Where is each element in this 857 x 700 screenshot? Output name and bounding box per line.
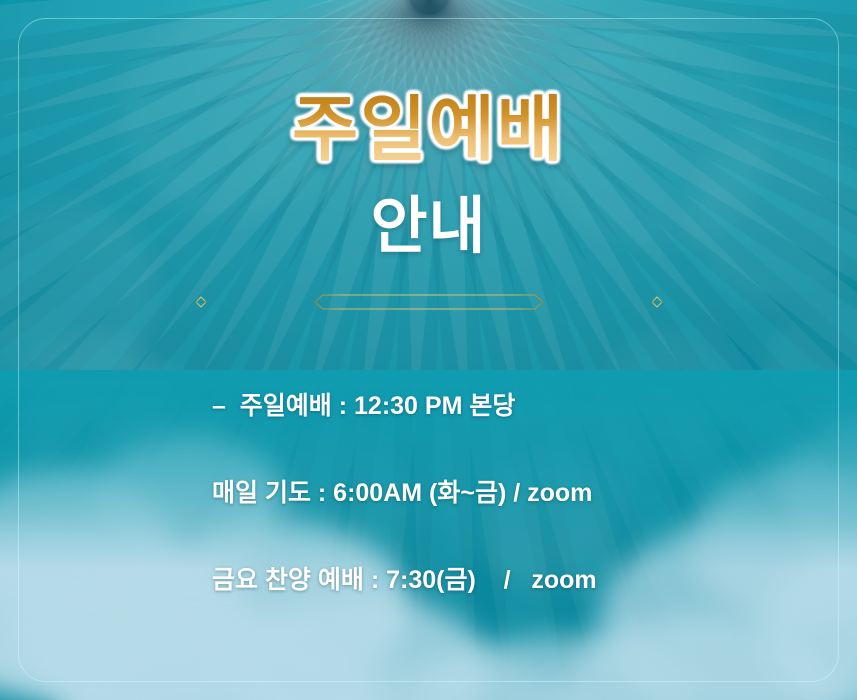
section-one-line-1: 금요 찬양 예배 : 7:30(금) / zoom [212, 566, 597, 595]
service-schedule-block: – 주일예배 : 12:30 PM 본당 매일 기도 : 6:00AM (화~금… [212, 334, 597, 700]
page-subtitle: 안내 [0, 196, 857, 258]
slide-content: 주일예배 안내 [0, 0, 857, 700]
section-one-heading: – 주일예배 : 12:30 PM 본당 [212, 392, 597, 421]
ornamental-divider [190, 293, 668, 311]
section-spacer [212, 653, 597, 675]
page-title: 주일예배 [0, 94, 857, 166]
section-one-line-0: 매일 기도 : 6:00AM (화~금) / zoom [212, 479, 597, 508]
diamond-hexagon-divider-icon [190, 293, 668, 311]
announcement-slide: 주일예배 안내 [0, 0, 857, 700]
